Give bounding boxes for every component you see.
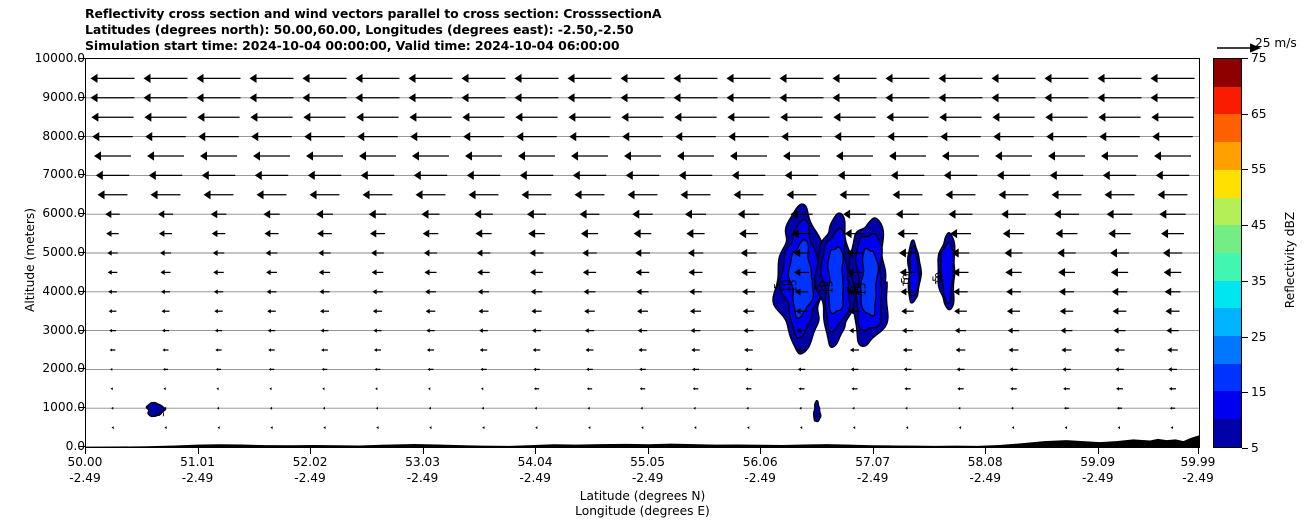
colorbar-band	[1214, 391, 1241, 419]
y-axis-tick-label: 7000.0	[42, 167, 85, 181]
colorbar-tick-mark	[1242, 392, 1248, 393]
colorbar-tick-mark	[1242, 281, 1248, 282]
colorbar-tick-mark	[1242, 225, 1248, 226]
x-axis-tick-longitude: -2.49	[1138, 471, 1258, 487]
chart-title-line-3: Simulation start time: 2024-10-04 00:00:…	[85, 38, 1185, 54]
x-axis-tick-mark	[310, 448, 311, 454]
x-axis-tick-label: 58.08-2.49	[925, 455, 1045, 486]
x-axis-tick-mark	[198, 448, 199, 454]
reflectivity-contours-group	[146, 204, 955, 421]
x-axis-tick-latitude: 53.03	[363, 455, 483, 471]
y-axis-tick-label: 5000.0	[42, 245, 85, 259]
x-axis-tick-latitude: 58.08	[925, 455, 1045, 471]
colorbar-tick-label: 35	[1251, 274, 1267, 288]
x-axis-tick-mark	[985, 448, 986, 454]
x-axis-tick-label: 51.01-2.49	[138, 455, 258, 486]
x-axis-tick-longitude: -2.49	[25, 471, 145, 487]
colorbar-band	[1214, 198, 1241, 226]
x-axis-tick-latitude: 56.06	[700, 455, 820, 471]
colorbar-band	[1214, 281, 1241, 309]
y-axis-tick-label: 2000.0	[42, 361, 85, 375]
chart-page: Reflectivity cross section and wind vect…	[0, 0, 1304, 526]
x-axis-tick-label: 57.07-2.49	[813, 455, 933, 486]
colorbar-tick-label: 55	[1251, 162, 1267, 176]
wind-vectors-group	[91, 74, 1195, 429]
x-axis-tick-label: 55.05-2.49	[588, 455, 708, 486]
x-axis-tick-mark	[535, 448, 536, 454]
colorbar-tick-label: 65	[1251, 107, 1267, 121]
svg-text:10: 10	[902, 273, 914, 286]
contour-labels-group: 51015510155101551051055	[155, 272, 946, 419]
colorbar-tick-mark	[1242, 169, 1248, 170]
colorbar-tick-mark	[1242, 448, 1248, 449]
x-axis-label-latitude: Latitude (degrees N)	[0, 489, 1285, 503]
colorbar-tick-mark	[1242, 58, 1248, 59]
colorbar-tick-label: 5	[1251, 441, 1259, 455]
colorbar-band	[1214, 253, 1241, 281]
y-axis-tick-label: 9000.0	[42, 90, 85, 104]
chart-title-block: Reflectivity cross section and wind vect…	[85, 6, 1185, 55]
x-axis-tick-mark	[1198, 448, 1199, 454]
x-axis-tick-latitude: 57.07	[813, 455, 933, 471]
y-axis-tick-label: 4000.0	[42, 284, 85, 298]
x-axis-tick-label: 50.00-2.49	[25, 455, 145, 486]
x-axis-tick-latitude: 51.01	[138, 455, 258, 471]
x-axis-tick-label: 59.99-2.49	[1138, 455, 1258, 486]
cross-section-canvas: 51015510155101551051055	[86, 59, 1199, 447]
x-axis-tick-longitude: -2.49	[588, 471, 708, 487]
x-axis-tick-mark	[1098, 448, 1099, 454]
svg-text:15: 15	[787, 279, 799, 292]
y-axis-tick-label: 8000.0	[42, 129, 85, 143]
svg-text:15: 15	[823, 280, 835, 293]
y-axis-tick-label: 6000.0	[42, 206, 85, 220]
colorbar-tick-label: 25	[1251, 330, 1267, 344]
x-axis-tick-latitude: 59.99	[1138, 455, 1258, 471]
x-axis-tick-latitude: 50.00	[25, 455, 145, 471]
chart-title-line-2: Latitudes (degrees north): 50.00,60.00, …	[85, 22, 1185, 38]
x-axis-tick-longitude: -2.49	[925, 471, 1045, 487]
colorbar-band	[1214, 170, 1241, 198]
colorbar-band	[1214, 419, 1241, 447]
colorbar-band	[1214, 87, 1241, 115]
colorbar-tick-mark	[1242, 114, 1248, 115]
x-axis-tick-longitude: -2.49	[138, 471, 258, 487]
colorbar-label: Reflectivity dBZ	[1283, 165, 1297, 355]
x-axis-tick-mark	[760, 448, 761, 454]
x-axis-tick-longitude: -2.49	[250, 471, 370, 487]
colorbar-band	[1214, 114, 1241, 142]
x-axis-tick-longitude: -2.49	[363, 471, 483, 487]
svg-text:5: 5	[155, 410, 167, 417]
x-axis-tick-longitude: -2.49	[813, 471, 933, 487]
reference-vector-label: 25 m/s	[1255, 36, 1297, 50]
x-axis-tick-mark	[423, 448, 424, 454]
y-axis-tick-label: 1000.0	[42, 400, 85, 414]
x-axis-tick-latitude: 54.04	[475, 455, 595, 471]
x-axis-tick-mark	[873, 448, 874, 454]
terrain-silhouette	[86, 435, 1199, 447]
x-axis-tick-label: 52.02-2.49	[250, 455, 370, 486]
colorbar-band	[1214, 225, 1241, 253]
svg-text:15: 15	[857, 282, 869, 295]
cross-section-plot: 51015510155101551051055	[85, 58, 1200, 448]
x-axis-tick-longitude: -2.49	[700, 471, 820, 487]
x-axis-tick-latitude: 52.02	[250, 455, 370, 471]
x-axis-tick-longitude: -2.49	[475, 471, 595, 487]
y-axis-tick-label: 3000.0	[42, 323, 85, 337]
colorbar-tick-label: 45	[1251, 218, 1267, 232]
y-axis-label: Altitude (meters)	[23, 150, 37, 370]
colorbar-band	[1214, 59, 1241, 87]
x-axis-tick-label: 56.06-2.49	[700, 455, 820, 486]
x-axis-tick-mark	[85, 448, 86, 454]
x-axis-tick-label: 53.03-2.49	[363, 455, 483, 486]
colorbar-band	[1214, 336, 1241, 364]
colorbar	[1213, 58, 1242, 448]
colorbar-tick-mark	[1242, 337, 1248, 338]
x-axis-label-longitude: Longitude (degrees E)	[0, 504, 1285, 518]
x-axis-tick-latitude: 55.05	[588, 455, 708, 471]
x-axis-tick-mark	[648, 448, 649, 454]
chart-title-line-1: Reflectivity cross section and wind vect…	[85, 6, 1185, 22]
colorbar-band	[1214, 308, 1241, 336]
colorbar-band	[1214, 142, 1241, 170]
svg-text:10: 10	[934, 272, 946, 285]
colorbar-tick-label: 75	[1251, 51, 1267, 65]
x-axis-tick-label: 54.04-2.49	[475, 455, 595, 486]
y-axis-tick-label: 10000.0	[35, 51, 85, 65]
y-axis-tick-label: 0.0	[66, 439, 85, 453]
colorbar-band	[1214, 364, 1241, 392]
svg-text:5: 5	[812, 412, 824, 419]
colorbar-tick-label: 15	[1251, 385, 1267, 399]
